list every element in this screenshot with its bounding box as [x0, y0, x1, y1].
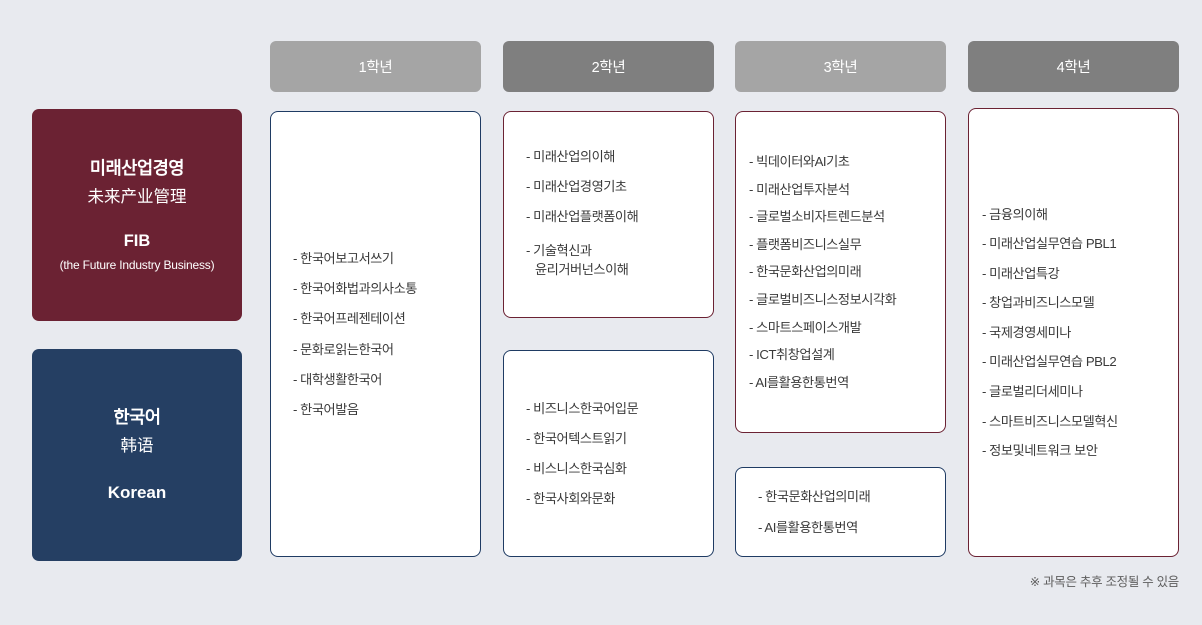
course-item: - 문화로읽는한국어 [293, 334, 464, 364]
course-item: - 미래산업실무연습 PBL2 [991, 347, 1162, 377]
curriculum-diagram: 미래산업경영 未来产业管理 FIB (the Future Industry B… [0, 0, 1202, 625]
course-item: - 창업과비즈니스모델 [991, 288, 1162, 318]
course-item: - 글로벌비즈니스정보시각화 [758, 286, 929, 314]
course-item: - 미래산업실무연습 PBL1 [991, 229, 1162, 259]
program-abbreviation: Korean [108, 483, 167, 503]
course-item: - 비즈니스한국어입문 [526, 393, 697, 423]
course-box-year2-korean: - 비즈니스한국어입문 - 한국어텍스트읽기 - 비스니스한국심화 - 한국사회… [503, 350, 714, 557]
course-item: - 한국어텍스트읽기 [526, 423, 697, 453]
course-box-year2-major: - 미래산업의이해 - 미래산업경영기초 - 미래산업플랫폼이해 - 기술혁신과… [503, 111, 714, 318]
course-item: - 금융의이해 [991, 199, 1162, 229]
program-title-zh: 未来产业管理 [88, 188, 187, 208]
program-card-korean: 한국어 韩语 Korean [32, 349, 242, 561]
course-item: - 미래산업의이해 [526, 142, 697, 172]
course-item: - 스마트스페이스개발 [758, 313, 929, 341]
course-box-year3-major: - 빅데이터와AI기초 - 미래산업투자분석 - 글로벌소비자트렌드분석 - 플… [735, 111, 946, 433]
year-header-2: 2학년 [503, 41, 714, 92]
course-item: - 빅데이터와AI기초 [758, 148, 929, 176]
course-box-year4-major: - 금융의이해 - 미래산업실무연습 PBL1 - 미래산업특강 - 창업과비즈… [968, 108, 1179, 557]
program-card-major: 미래산업경영 未来产业管理 FIB (the Future Industry B… [32, 109, 242, 321]
program-title-zh: 韩语 [121, 437, 154, 457]
course-item: - 대학생활한국어 [293, 364, 464, 394]
course-item: - 미래산업경영기초 [526, 172, 697, 202]
course-item: - 정보및네트워크 보안 [991, 436, 1162, 466]
course-item: - 미래산업특강 [991, 259, 1162, 289]
year-header-4: 4학년 [968, 41, 1179, 92]
course-item: - 미래산업플랫폼이해 [526, 202, 697, 232]
footnote-note: ※ 과목은 추후 조정될 수 있음 [1030, 571, 1179, 590]
course-item: - AI를활용한통번역 [758, 512, 929, 542]
course-item: - 플랫폼비즈니스실무 [758, 231, 929, 259]
course-item: - 글로벌리더세미나 [991, 377, 1162, 407]
course-item: - 한국문화산업의미래 [758, 482, 929, 512]
course-box-year3-korean: - 한국문화산업의미래 - AI를활용한통번역 [735, 467, 946, 557]
year-header-1: 1학년 [270, 41, 481, 92]
course-item: - 한국어화법과의사소통 [293, 274, 464, 304]
course-item: - 스마트비즈니스모델혁신 [991, 406, 1162, 436]
course-item: - 비스니스한국심화 [526, 454, 697, 484]
course-item: - 한국어프레젠테이션 [293, 304, 464, 334]
course-item: - 미래산업투자분석 [758, 175, 929, 203]
year-header-3: 3학년 [735, 41, 946, 92]
course-item: - AI를활용한통번역 [758, 369, 929, 397]
program-title-ko: 미래산업경영 [90, 158, 184, 179]
program-abbreviation: FIB [124, 232, 151, 252]
course-item: - ICT취창업설계 [758, 341, 929, 369]
course-item: - 글로벌소비자트렌드분석 [758, 203, 929, 231]
course-item: - 한국사회와문화 [526, 484, 697, 514]
program-title-ko: 한국어 [113, 407, 160, 428]
program-full-name: (the Future Industry Business) [60, 258, 215, 272]
course-box-year1-korean: - 한국어보고서쓰기 - 한국어화법과의사소통 - 한국어프레젠테이션 - 문화… [270, 111, 481, 557]
course-item: - 한국어보고서쓰기 [293, 243, 464, 273]
course-item: - 기술혁신과 윤리거버넌스이해 [526, 232, 697, 287]
course-item: - 한국어발음 [293, 394, 464, 424]
course-item: - 한국문화산업의미래 [758, 258, 929, 286]
course-item: - 국제경영세미나 [991, 318, 1162, 348]
